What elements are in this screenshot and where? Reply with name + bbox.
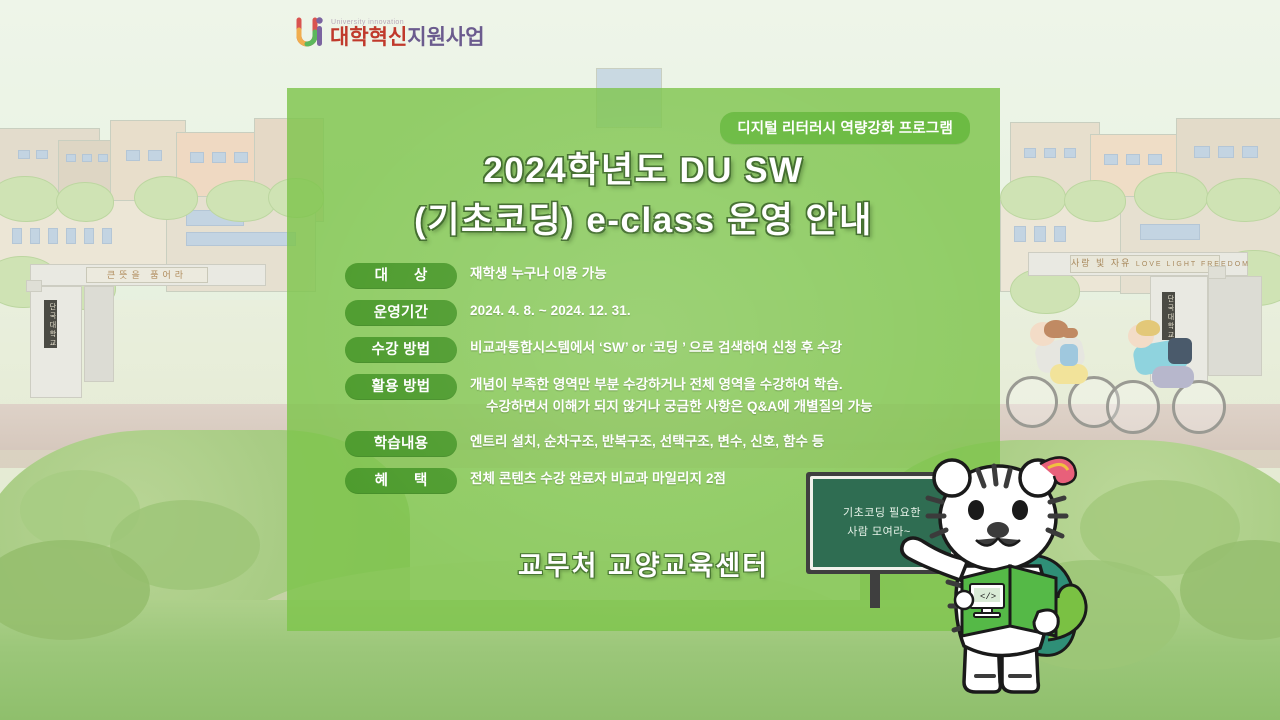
label-target-a: 대 <box>375 263 388 289</box>
logo-text-block: University innovation 대학혁신지원사업 <box>330 19 485 50</box>
university-innovation-logo: University innovation 대학혁신지원사업 <box>295 16 485 50</box>
logo-english-text: University innovation <box>331 19 485 26</box>
label-benefit-a: 혜 <box>375 468 388 494</box>
value-usage-line-1: 개념이 부족한 영역만 부분 수강하거나 전체 영역을 수강하여 학습. <box>470 377 843 392</box>
title-line-1: 2024학년도 DU SW <box>287 146 1000 196</box>
label-benefit-b: 택 <box>414 468 427 494</box>
poster-canvas: 큰뜻을 품어라 단국대학교 사랑 빛 자유 LOVE LIGHT FREEDOM… <box>0 0 1280 720</box>
gate-left-plate: 단국대학교 <box>44 300 57 348</box>
info-row-curriculum: 학습내용 엔트리 설치, 순차구조, 반복구조, 선택구조, 변수, 신호, 함… <box>345 431 985 457</box>
info-row-period: 운영기간 2024. 4. 8. ~ 2024. 12. 31. <box>345 300 985 326</box>
value-usage-line-2: 수강하면서 이해가 되지 않거나 궁금한 사항은 Q&A에 개별질의 가능 <box>470 396 985 418</box>
value-target: 재학생 누구나 이용 가능 <box>457 263 985 285</box>
info-row-enrollment: 수강 방법 비교과통합시스템에서 ‘SW’ or ‘코딩 ’ 으로 검색하여 신… <box>345 337 985 363</box>
page-title: 2024학년도 DU SW (기초코딩) e-class 운영 안내 <box>287 146 1000 246</box>
label-target-b: 상 <box>414 263 427 289</box>
gate-right-sign-kor: 사랑 빛 자유 <box>1071 258 1131 268</box>
info-row-target: 대상 재학생 누구나 이용 가능 <box>345 263 985 289</box>
value-period: 2024. 4. 8. ~ 2024. 12. 31. <box>457 300 985 322</box>
label-benefit: 혜택 <box>345 468 457 494</box>
label-usage: 활용 방법 <box>345 374 457 400</box>
svg-text:</>: </> <box>980 592 996 602</box>
label-enrollment: 수강 방법 <box>345 337 457 363</box>
logo-korean-text: 대학혁신지원사업 <box>330 27 485 49</box>
program-badge: 디지털 리터러시 역량강화 프로그램 <box>720 112 970 144</box>
computer-monitor-icon: </> <box>970 584 1004 617</box>
gate-right-sign-eng: LOVE LIGHT FREEDOM <box>1136 261 1250 268</box>
value-enrollment: 비교과통합시스템에서 ‘SW’ or ‘코딩 ’ 으로 검색하여 신청 후 수강 <box>457 337 985 359</box>
white-tiger-mascot: </> <box>898 440 1148 720</box>
gate-right-plate: 단국대학교 <box>1162 292 1175 340</box>
title-line-2: (기초코딩) e-class 운영 안내 <box>287 196 1000 246</box>
label-target: 대상 <box>345 263 457 289</box>
university-innovation-mark-icon <box>295 16 325 50</box>
value-usage: 개념이 부족한 영역만 부분 수강하거나 전체 영역을 수강하여 학습. 수강하… <box>457 374 985 418</box>
logo-korean-red: 대학혁신 <box>330 26 407 49</box>
info-rows: 대상 재학생 누구나 이용 가능 운영기간 2024. 4. 8. ~ 2024… <box>345 263 985 505</box>
chalkboard-leg <box>870 574 880 608</box>
gate-right-sign: 사랑 빛 자유 LOVE LIGHT FREEDOM <box>1070 255 1220 273</box>
info-row-usage: 활용 방법 개념이 부족한 영역만 부분 수강하거나 전체 영역을 수강하여 학… <box>345 374 985 418</box>
logo-korean-purple: 지원사업 <box>407 26 484 49</box>
label-period: 운영기간 <box>345 300 457 326</box>
gate-left-sign: 큰뜻을 품어라 <box>86 267 208 283</box>
label-curriculum: 학습내용 <box>345 431 457 457</box>
